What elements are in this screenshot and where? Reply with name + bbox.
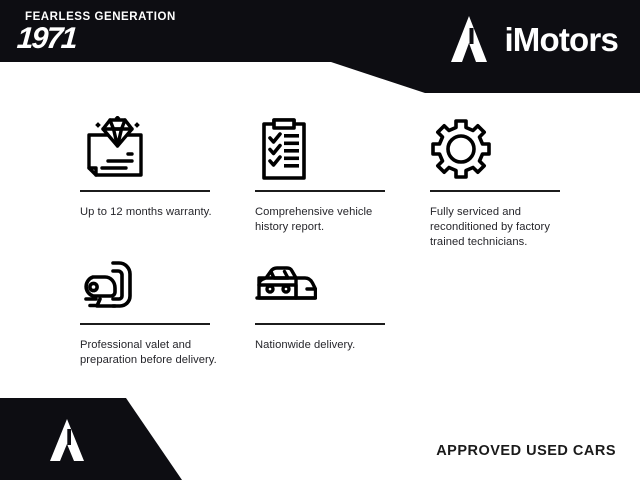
feature-divider — [255, 190, 385, 192]
feature-text: Nationwide delivery. — [255, 338, 395, 353]
footer-tagline: APPROVED USED CARS — [436, 443, 616, 459]
warranty-diamond-card-icon — [80, 112, 220, 186]
vacuum-cleaner-icon — [80, 255, 220, 317]
feature-divider — [80, 323, 210, 325]
feature-divider — [430, 190, 560, 192]
car-transporter-truck-icon — [255, 255, 395, 317]
feature-item-serviced: Fully serviced and reconditioned by fact… — [430, 112, 570, 249]
feature-divider — [80, 190, 210, 192]
clipboard-checklist-icon — [255, 112, 395, 186]
feature-text: Up to 12 months warranty. — [80, 205, 220, 220]
feature-divider — [255, 323, 385, 325]
feature-text: Fully serviced and reconditioned by fact… — [430, 205, 570, 249]
imotors-approved-used-cars-banner: FEARLESS GENERATION 1971 iMotors — [0, 0, 640, 480]
feature-item-history-report: Comprehensive vehicle history report. — [255, 112, 395, 235]
imotors-chevron-logo-icon — [43, 417, 91, 463]
feature-text: Professional valet and preparation befor… — [80, 338, 220, 368]
gear-cog-icon — [430, 112, 570, 186]
feature-item-valet: Professional valet and preparation befor… — [80, 255, 220, 368]
feature-item-warranty: Up to 12 months warranty. — [80, 112, 220, 220]
feature-item-delivery: Nationwide delivery. — [255, 255, 395, 353]
feature-text: Comprehensive vehicle history report. — [255, 205, 395, 235]
